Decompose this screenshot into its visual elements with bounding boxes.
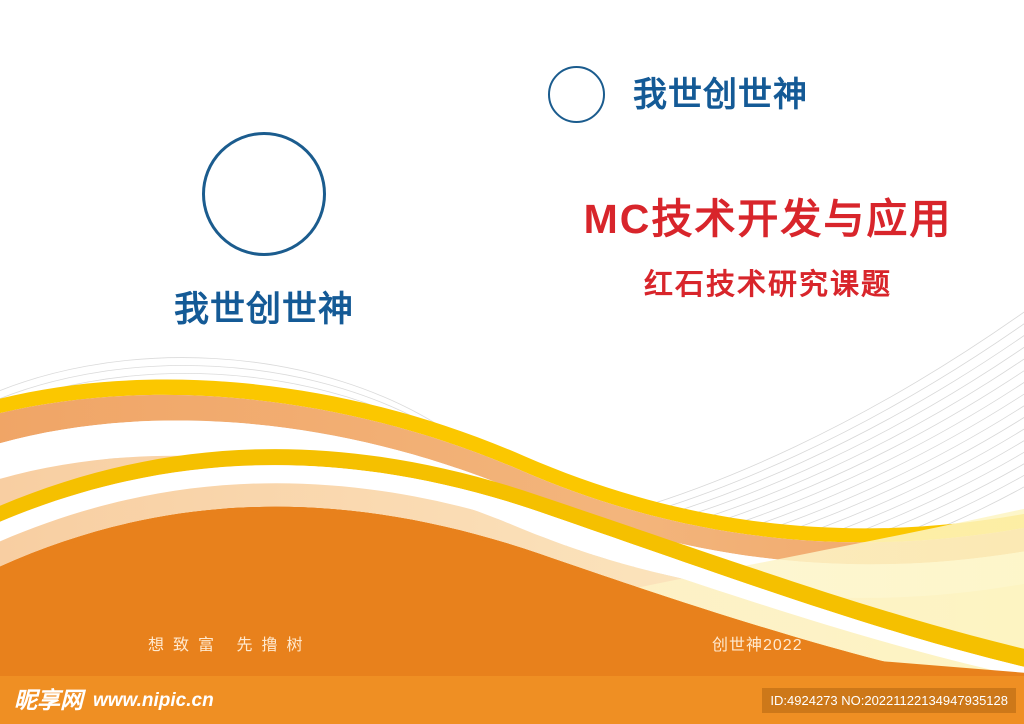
poster-canvas: 我世创世神 我世创世神 MC技术开发与应用 红石技术研究课题 想致富 先撸树 创… xyxy=(0,0,1024,724)
circle-outline-icon xyxy=(202,132,326,256)
watermark-bar: 昵享网 www.nipic.cn ID:4924273 NO:202211221… xyxy=(0,676,1024,724)
footer-slogan: 想致富 先撸树 xyxy=(148,638,311,654)
circle-outline-icon xyxy=(548,66,605,123)
left-brand-name: 我世创世神 xyxy=(134,292,394,327)
watermark-url[interactable]: www.nipic.cn xyxy=(93,691,214,710)
watermark-logo: 昵享网 xyxy=(14,689,83,712)
title-block: MC技术开发与应用 红石技术研究课题 xyxy=(512,196,1024,302)
page-subtitle: 红石技术研究课题 xyxy=(512,269,1024,302)
background-artwork xyxy=(0,0,1024,676)
footer-year-label: 创世神2022 xyxy=(712,638,803,654)
left-logo-block: 我世创世神 xyxy=(134,132,394,327)
page-title: MC技术开发与应用 xyxy=(512,196,1024,243)
watermark-id-badge: ID:4924273 NO:20221122134947935128 xyxy=(762,688,1016,713)
top-brand-name: 我世创世神 xyxy=(633,78,808,112)
top-logo-block: 我世创世神 xyxy=(548,66,808,123)
